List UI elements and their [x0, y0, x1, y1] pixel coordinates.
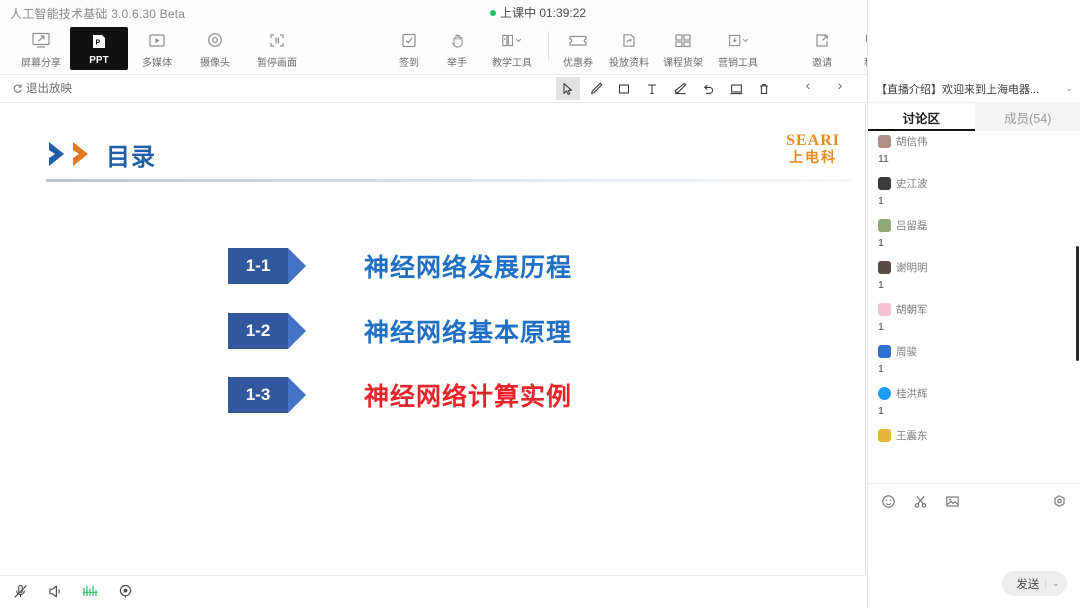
- tool-marketing-tools[interactable]: 营销工具: [710, 27, 766, 69]
- message-user: 王震东: [896, 428, 928, 443]
- tool-multimedia[interactable]: 多媒体: [128, 27, 186, 69]
- message-user: 桂洪辉: [896, 386, 928, 401]
- tool-label: 投放资料: [609, 54, 649, 69]
- delete-tool-icon[interactable]: [752, 77, 776, 100]
- panel-tabs: 讨论区 成员(54): [868, 103, 1080, 131]
- slide-canvas[interactable]: 目录 SEARI 上电科 1-1 神经网络发展历程 1-2: [8, 103, 858, 575]
- tool-label: 暂停画面: [257, 54, 297, 69]
- tool-invite[interactable]: 邀请: [796, 27, 848, 69]
- toc-tag: 1-2: [228, 313, 306, 349]
- slide-title: 目录: [106, 137, 156, 172]
- tool-ppt[interactable]: P PPT: [70, 27, 128, 70]
- raise-hand-icon: [445, 29, 469, 51]
- toolbar-middle: 签到 举手 教学工: [385, 27, 766, 69]
- live-notice-bar[interactable]: 【直播介绍】欢迎来到上海电器... ⌄: [868, 75, 1080, 103]
- checkin-icon: [397, 29, 421, 51]
- toc-item-2: 1-2 神经网络基本原理: [228, 313, 572, 349]
- screen-tool-icon[interactable]: [724, 77, 748, 100]
- undo-tool-icon[interactable]: [696, 77, 720, 100]
- send-button[interactable]: 发送 ⌄: [1002, 571, 1067, 596]
- tool-screen-share[interactable]: 屏幕分享: [12, 27, 70, 69]
- slide-nav: ‹ ›: [800, 77, 848, 93]
- location-icon[interactable]: [115, 581, 135, 601]
- toc-number: 1-2: [228, 321, 288, 341]
- pause-frame-icon: [265, 29, 289, 51]
- chat-message-list[interactable]: 胡信伟 11 史江波 1 吕留磊 1 谢明明 1 胡朝军: [868, 131, 1080, 483]
- tool-coupon[interactable]: 优惠券: [554, 27, 602, 69]
- message-user: 周骏: [896, 344, 917, 359]
- list-item: 吕留磊 1: [868, 215, 1080, 257]
- list-item: 桂洪辉 1: [868, 383, 1080, 425]
- chevron-orange-icon: [70, 139, 100, 169]
- svg-text:P: P: [96, 39, 101, 46]
- tool-label: 多媒体: [142, 54, 172, 69]
- ppt-icon: P: [87, 30, 111, 52]
- chat-scrollbar[interactable]: [1076, 246, 1079, 361]
- exit-presentation-button[interactable]: 退出放映: [12, 80, 72, 96]
- share-material-icon: [617, 29, 641, 51]
- tool-label: 课程货架: [663, 54, 703, 69]
- tool-checkin[interactable]: 签到: [385, 27, 433, 69]
- avatar: [878, 177, 891, 190]
- annotation-tool-group: [556, 77, 776, 100]
- avatar: [878, 429, 891, 442]
- exit-presentation-label: 退出放映: [26, 80, 72, 96]
- live-notice-text: 【直播介绍】欢迎来到上海电器...: [876, 81, 1061, 97]
- toc-tag: 1-1: [228, 248, 306, 284]
- coupon-icon: [566, 29, 590, 51]
- tool-label: 邀请: [812, 54, 832, 69]
- live-dot: [490, 10, 496, 16]
- chat-input-icons: [880, 493, 960, 509]
- refresh-icon: [12, 83, 23, 94]
- toc-item-1: 1-1 神经网络发展历程: [228, 248, 572, 284]
- marketing-tools-icon: [726, 29, 750, 51]
- tool-camera[interactable]: 摄像头: [186, 27, 244, 69]
- scissors-icon[interactable]: [912, 493, 928, 509]
- message-text: 1: [878, 363, 1071, 375]
- slide-stage: 目录 SEARI 上电科 1-1 神经网络发展历程 1-2: [0, 103, 866, 575]
- annotation-bar: 退出放映: [0, 75, 866, 103]
- avatar: [878, 303, 891, 316]
- tool-teaching-tools[interactable]: 教学工具: [481, 27, 543, 69]
- tool-label: 教学工具: [492, 54, 532, 69]
- teaching-tools-icon: [500, 29, 524, 51]
- list-item: 胡朝军 1: [868, 299, 1080, 341]
- tool-label: 优惠券: [563, 54, 593, 69]
- tool-label: 屏幕分享: [21, 54, 61, 69]
- tool-label: 摄像头: [200, 54, 230, 69]
- send-options-icon[interactable]: ⌄: [1045, 579, 1059, 588]
- tab-discussion[interactable]: 讨论区: [868, 103, 975, 131]
- toolbar-left: 屏幕分享 P PPT 多媒体: [12, 27, 310, 70]
- tool-label: 举手: [447, 54, 467, 69]
- invite-icon: [810, 29, 834, 51]
- status-icon-group: [10, 581, 135, 601]
- message-user: 吕留磊: [896, 218, 928, 233]
- message-text: 11: [878, 153, 1071, 165]
- course-shelf-icon: [671, 29, 695, 51]
- avatar: [878, 219, 891, 232]
- text-tool-icon[interactable]: [640, 77, 664, 100]
- logo-line1: SEARI: [786, 133, 840, 150]
- status-bar: 网络良好 累计签到-30: [0, 575, 866, 608]
- message-user: 胡信伟: [896, 134, 928, 149]
- tab-label: 讨论区: [902, 108, 940, 127]
- media-icon: [145, 29, 169, 51]
- message-user: 谢明明: [896, 260, 928, 275]
- slide-header: 目录 SEARI 上电科: [38, 131, 848, 181]
- toc-number: 1-1: [228, 256, 288, 276]
- rectangle-tool-icon[interactable]: [612, 77, 636, 100]
- message-user: 史江波: [896, 176, 928, 191]
- list-item: 周骏 1: [868, 341, 1080, 383]
- tool-label: PPT: [89, 55, 108, 66]
- list-item: 史江波 1: [868, 173, 1080, 215]
- message-text: 1: [878, 405, 1071, 417]
- eraser-tool-icon[interactable]: [668, 77, 692, 100]
- app-title: 人工智能技术基础 3.0.6.30 Beta: [10, 5, 185, 22]
- tool-raise-hand[interactable]: 举手: [433, 27, 481, 69]
- right-panel: 【直播介绍】欢迎来到上海电器... ⌄ 讨论区 成员(54) 胡信伟 11 史江…: [867, 0, 1080, 608]
- logo-line2: 上电科: [786, 150, 840, 165]
- toc-text: 神经网络计算实例: [364, 377, 572, 413]
- avatar: [878, 135, 891, 148]
- live-status: 上课中 01:39:22: [490, 4, 586, 21]
- tool-label: 营销工具: [718, 54, 758, 69]
- toolbar-divider: [548, 31, 549, 61]
- screen-share-icon: [29, 29, 53, 51]
- toc-tag: 1-3: [228, 377, 306, 413]
- list-item: 胡信伟 11: [868, 131, 1080, 173]
- chevron-down-icon[interactable]: ⌄: [1065, 83, 1073, 94]
- settings-gear-icon[interactable]: [1051, 493, 1067, 509]
- cursor-tool-icon[interactable]: [556, 77, 580, 100]
- live-status-text: 上课中 01:39:22: [500, 4, 586, 21]
- send-label: 发送: [1016, 576, 1039, 592]
- toc-number: 1-3: [228, 385, 288, 405]
- audio-levels-icon[interactable]: [80, 581, 100, 601]
- emoji-icon[interactable]: [880, 493, 896, 509]
- pen-tool-icon[interactable]: [584, 77, 608, 100]
- speaker-icon[interactable]: [45, 581, 65, 601]
- live-class-app: 人工智能技术基础 3.0.6.30 Beta 上课中 01:39:22: [0, 0, 1080, 608]
- tool-label: 签到: [399, 54, 419, 69]
- list-item: 王震东: [868, 425, 1080, 445]
- toc-item-3: 1-3 神经网络计算实例: [228, 377, 572, 413]
- list-item: 谢明明 1: [868, 257, 1080, 299]
- camera-icon: [203, 29, 227, 51]
- message-text: 1: [878, 237, 1071, 249]
- toc-text: 神经网络基本原理: [364, 313, 572, 349]
- header-rule: [46, 179, 851, 182]
- avatar: [878, 261, 891, 274]
- next-slide-button[interactable]: ›: [832, 77, 848, 93]
- tab-label: 成员(54): [1004, 108, 1051, 127]
- image-icon[interactable]: [944, 493, 960, 509]
- chat-input-area: 发送 ⌄: [868, 483, 1080, 608]
- message-text: 1: [878, 195, 1071, 207]
- tab-members[interactable]: 成员(54): [975, 103, 1080, 131]
- prev-slide-button[interactable]: ‹: [800, 77, 816, 93]
- avatar: [878, 345, 891, 358]
- company-logo: SEARI 上电科: [786, 133, 840, 164]
- tool-course-shelf[interactable]: 课程货架: [656, 27, 710, 69]
- message-user: 胡朝军: [896, 302, 928, 317]
- tool-pause-frame[interactable]: 暂停画面: [244, 27, 310, 69]
- message-text: 1: [878, 279, 1071, 291]
- message-text: 1: [878, 321, 1071, 333]
- toc-text: 神经网络发展历程: [364, 248, 572, 284]
- tool-share-material[interactable]: 投放资料: [602, 27, 656, 69]
- avatar: [878, 387, 891, 400]
- microphone-muted-icon[interactable]: [10, 581, 30, 601]
